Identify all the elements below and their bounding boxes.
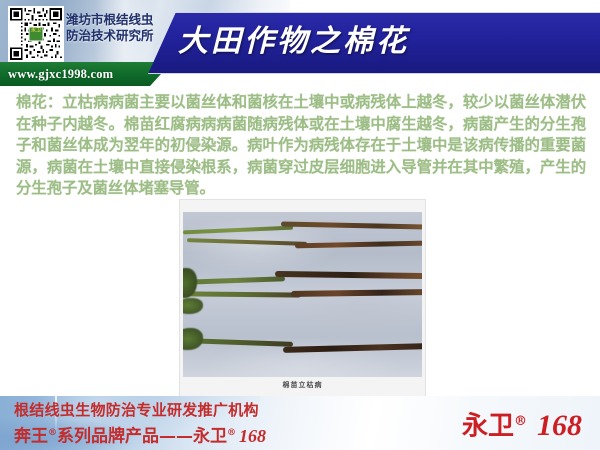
photo-stem xyxy=(275,271,422,279)
footer-brand-mid: 系列品牌产品——永卫 xyxy=(57,427,227,447)
disease-photo xyxy=(183,212,422,377)
registered-mark-icon: ® xyxy=(48,428,57,438)
photo-stem xyxy=(183,226,293,235)
figure-caption: 棉苗立枯病 xyxy=(180,380,425,390)
brand-name-text: 永卫 xyxy=(462,412,514,442)
footer-tagline: 根结线虫生物防治专业研发推广机构 xyxy=(14,400,259,421)
institute-name: 潍坊市根结线虫防治技术研究所 xyxy=(66,12,158,44)
figure-frame: 棉苗立枯病 xyxy=(180,200,425,396)
photo-stem xyxy=(281,221,422,229)
photo-leaf xyxy=(183,328,203,350)
page-header: 永卫 潍坊市根结线虫防治技术研究所 www.gjxc1998.com 大田作物之… xyxy=(0,0,600,90)
brand-logo: 永卫®168 xyxy=(462,402,582,447)
photo-stem xyxy=(189,291,301,297)
qr-center-logo: 永卫 xyxy=(29,27,44,42)
footer-brand-number: 168 xyxy=(236,426,266,446)
page-footer: 根结线虫生物防治专业研发推广机构 奔王®系列品牌产品——永卫®168 永卫®16… xyxy=(0,396,600,450)
photo-stem xyxy=(291,289,422,297)
photo-stem xyxy=(295,241,422,249)
photo-content xyxy=(183,212,422,377)
qr-code-icon[interactable]: 永卫 xyxy=(8,6,64,62)
footer-brand-prefix: 奔王 xyxy=(14,427,48,447)
registered-mark-icon: ® xyxy=(514,414,527,429)
brand-number-text: 168 xyxy=(527,409,582,442)
photo-stem xyxy=(185,276,285,284)
registered-mark-icon: ® xyxy=(227,428,236,438)
footer-product-line: 奔王®系列品牌产品——永卫®168 xyxy=(14,421,266,449)
photo-leaf xyxy=(183,298,203,314)
page-title: 大田作物之棉花 xyxy=(178,18,409,66)
website-url[interactable]: www.gjxc1998.com xyxy=(8,63,113,85)
body-paragraph: 棉花：立枯病病菌主要以菌丝体和菌核在土壤中或病残体上越冬，较少以菌丝体潜伏在种子… xyxy=(16,92,586,200)
photo-stem xyxy=(187,238,307,246)
photo-stem xyxy=(283,343,422,353)
